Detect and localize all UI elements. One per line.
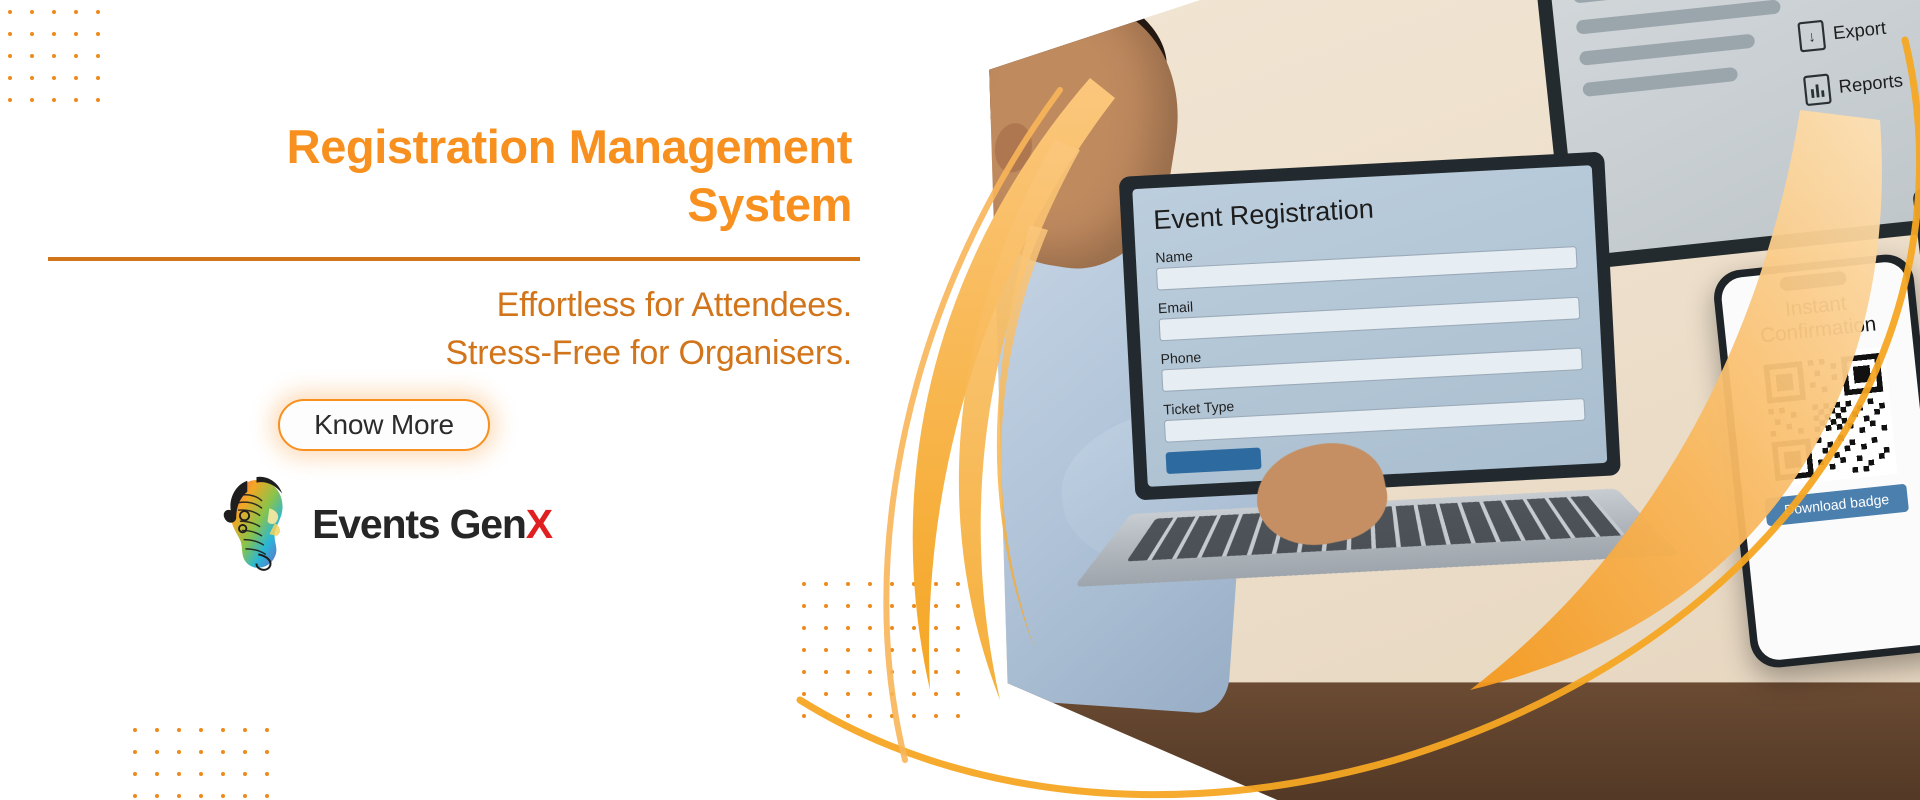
decor-dot xyxy=(96,98,100,102)
decor-dot xyxy=(934,626,938,630)
decor-dot xyxy=(133,772,137,776)
decor-dot xyxy=(824,670,828,674)
bar-chart-icon xyxy=(1803,73,1832,106)
dot-row xyxy=(8,10,118,14)
decor-dot xyxy=(52,32,56,36)
decor-dot xyxy=(846,604,850,608)
decor-dot xyxy=(30,32,34,36)
know-more-button[interactable]: Know More xyxy=(278,399,490,451)
download-badge-button: Download badge xyxy=(1764,483,1909,526)
decor-dot xyxy=(133,728,137,732)
decor-dot xyxy=(956,692,960,696)
decor-dot xyxy=(30,10,34,14)
title-divider xyxy=(48,257,860,261)
decor-dot xyxy=(824,692,828,696)
decor-dot xyxy=(890,714,894,718)
decor-dot xyxy=(846,714,850,718)
decor-dot xyxy=(96,76,100,80)
decor-dot xyxy=(846,670,850,674)
scene-desk xyxy=(835,682,1920,800)
decor-dot xyxy=(30,76,34,80)
phone-title: Instant Confirmation xyxy=(1757,290,1878,349)
decor-dot xyxy=(133,750,137,754)
decor-dot xyxy=(934,670,938,674)
tablet-action-reports: Reports xyxy=(1803,63,1920,107)
decor-dot xyxy=(155,750,159,754)
dot-row xyxy=(133,750,287,754)
dot-row xyxy=(8,54,118,58)
page-title: Registration Management System xyxy=(48,118,860,235)
decor-dot xyxy=(890,648,894,652)
decor-dot xyxy=(155,794,159,798)
tablet-action-export: ↓ Export xyxy=(1797,9,1920,53)
dot-row xyxy=(802,692,978,696)
hero-photo: Instant Confirmation Organizer Interface xyxy=(816,0,1920,800)
decor-dot xyxy=(912,670,916,674)
decor-dot xyxy=(74,98,78,102)
dot-row xyxy=(802,604,978,608)
decor-dot xyxy=(8,32,12,36)
decor-dot xyxy=(956,714,960,718)
hero-text-column: Registration Management System Effortles… xyxy=(48,118,860,573)
dot-row xyxy=(8,98,118,102)
decor-dot xyxy=(890,692,894,696)
dot-row xyxy=(8,76,118,80)
decor-dot xyxy=(177,750,181,754)
decor-dot xyxy=(868,670,872,674)
decor-dot xyxy=(934,714,938,718)
decor-dot xyxy=(824,582,828,586)
decor-dot xyxy=(802,714,806,718)
laptop-submit-button xyxy=(1166,447,1262,474)
decor-dot xyxy=(868,604,872,608)
events-genx-mask-logo xyxy=(216,475,308,573)
decor-dot xyxy=(74,10,78,14)
tablet-actions: ↓ Export Reports xyxy=(1791,0,1920,207)
decor-dot xyxy=(802,582,806,586)
laptop-field-ticket-type: Ticket Type xyxy=(1163,380,1586,443)
decor-dot xyxy=(8,54,12,58)
dot-grid-center xyxy=(802,582,978,736)
laptop-screen: Event Registration Name Email Phone xyxy=(1132,165,1607,487)
decor-dot xyxy=(199,728,203,732)
decor-dot xyxy=(52,54,56,58)
decor-dot xyxy=(177,728,181,732)
decor-dot xyxy=(265,772,269,776)
decor-dot xyxy=(868,626,872,630)
decor-dot xyxy=(243,794,247,798)
decor-dot xyxy=(912,604,916,608)
decor-dot xyxy=(74,32,78,36)
decor-dot xyxy=(934,692,938,696)
decor-dot xyxy=(802,604,806,608)
decor-dot xyxy=(802,670,806,674)
decor-dot xyxy=(802,648,806,652)
decor-dot xyxy=(30,54,34,58)
decor-dot xyxy=(912,692,916,696)
decor-dot xyxy=(30,98,34,102)
decor-dot xyxy=(96,54,100,58)
decor-dot xyxy=(8,76,12,80)
decor-dot xyxy=(912,582,916,586)
dot-row xyxy=(8,32,118,36)
decor-dot xyxy=(177,794,181,798)
dot-grid-top-left xyxy=(8,10,118,120)
decor-dot xyxy=(802,626,806,630)
decor-dot xyxy=(912,648,916,652)
decor-dot xyxy=(846,582,850,586)
decor-dot xyxy=(956,670,960,674)
brand-name: Events GenX xyxy=(312,501,552,548)
decor-dot xyxy=(824,648,828,652)
decor-dot xyxy=(846,626,850,630)
decor-dot xyxy=(177,772,181,776)
dot-row xyxy=(802,714,978,718)
decor-dot xyxy=(221,750,225,754)
decor-dot xyxy=(934,582,938,586)
decor-dot xyxy=(868,692,872,696)
decor-dot xyxy=(243,772,247,776)
decor-dot xyxy=(199,794,203,798)
laptop-device: Event Registration Name Email Phone xyxy=(1119,152,1621,501)
decor-dot xyxy=(868,582,872,586)
decor-dot xyxy=(8,98,12,102)
decor-dot xyxy=(956,604,960,608)
decor-dot xyxy=(96,32,100,36)
decor-dot xyxy=(199,750,203,754)
decor-dot xyxy=(199,772,203,776)
decor-dot xyxy=(912,714,916,718)
decor-dot xyxy=(846,692,850,696)
dot-row xyxy=(133,794,287,798)
decor-dot xyxy=(133,794,137,798)
decor-dot xyxy=(956,626,960,630)
phone-screen: Instant Confirmation xyxy=(1720,260,1920,662)
decor-dot xyxy=(956,582,960,586)
dot-row xyxy=(802,582,978,586)
decor-dot xyxy=(221,728,225,732)
decor-dot xyxy=(221,772,225,776)
decor-dot xyxy=(265,794,269,798)
dot-row xyxy=(133,772,287,776)
decor-dot xyxy=(824,626,828,630)
decor-dot xyxy=(52,98,56,102)
dot-row xyxy=(802,670,978,674)
decor-dot xyxy=(52,76,56,80)
decor-dot xyxy=(824,604,828,608)
qr-code xyxy=(1757,347,1897,487)
decor-dot xyxy=(846,648,850,652)
decor-dot xyxy=(74,54,78,58)
dot-grid-bottom-left xyxy=(133,728,287,800)
dot-row xyxy=(802,626,978,630)
decor-dot xyxy=(890,582,894,586)
decor-dot xyxy=(956,648,960,652)
decor-dot xyxy=(52,10,56,14)
hero-subtitle: Effortless for Attendees. Stress-Free fo… xyxy=(48,281,860,378)
decor-dot xyxy=(155,772,159,776)
decor-dot xyxy=(912,626,916,630)
decor-dot xyxy=(74,76,78,80)
decor-dot xyxy=(934,604,938,608)
decor-dot xyxy=(824,714,828,718)
dot-row xyxy=(802,648,978,652)
decor-dot xyxy=(868,714,872,718)
decor-dot xyxy=(868,648,872,652)
laptop-form-title: Event Registration xyxy=(1153,183,1575,236)
photo-scene: Instant Confirmation Organizer Interface xyxy=(835,0,1920,800)
decor-dot xyxy=(802,692,806,696)
decor-dot xyxy=(96,10,100,14)
decor-dot xyxy=(934,648,938,652)
brand-logo[interactable]: Events GenX xyxy=(48,475,860,573)
decor-dot xyxy=(265,728,269,732)
decor-dot xyxy=(890,626,894,630)
download-icon: ↓ xyxy=(1797,20,1826,53)
decor-dot xyxy=(243,750,247,754)
decor-dot xyxy=(221,794,225,798)
hero-banner: Instant Confirmation Organizer Interface xyxy=(0,0,1920,800)
decor-dot xyxy=(265,750,269,754)
decor-dot xyxy=(243,728,247,732)
decor-dot xyxy=(890,604,894,608)
decor-dot xyxy=(155,728,159,732)
decor-dot xyxy=(890,670,894,674)
dot-row xyxy=(133,728,287,732)
decor-dot xyxy=(8,10,12,14)
